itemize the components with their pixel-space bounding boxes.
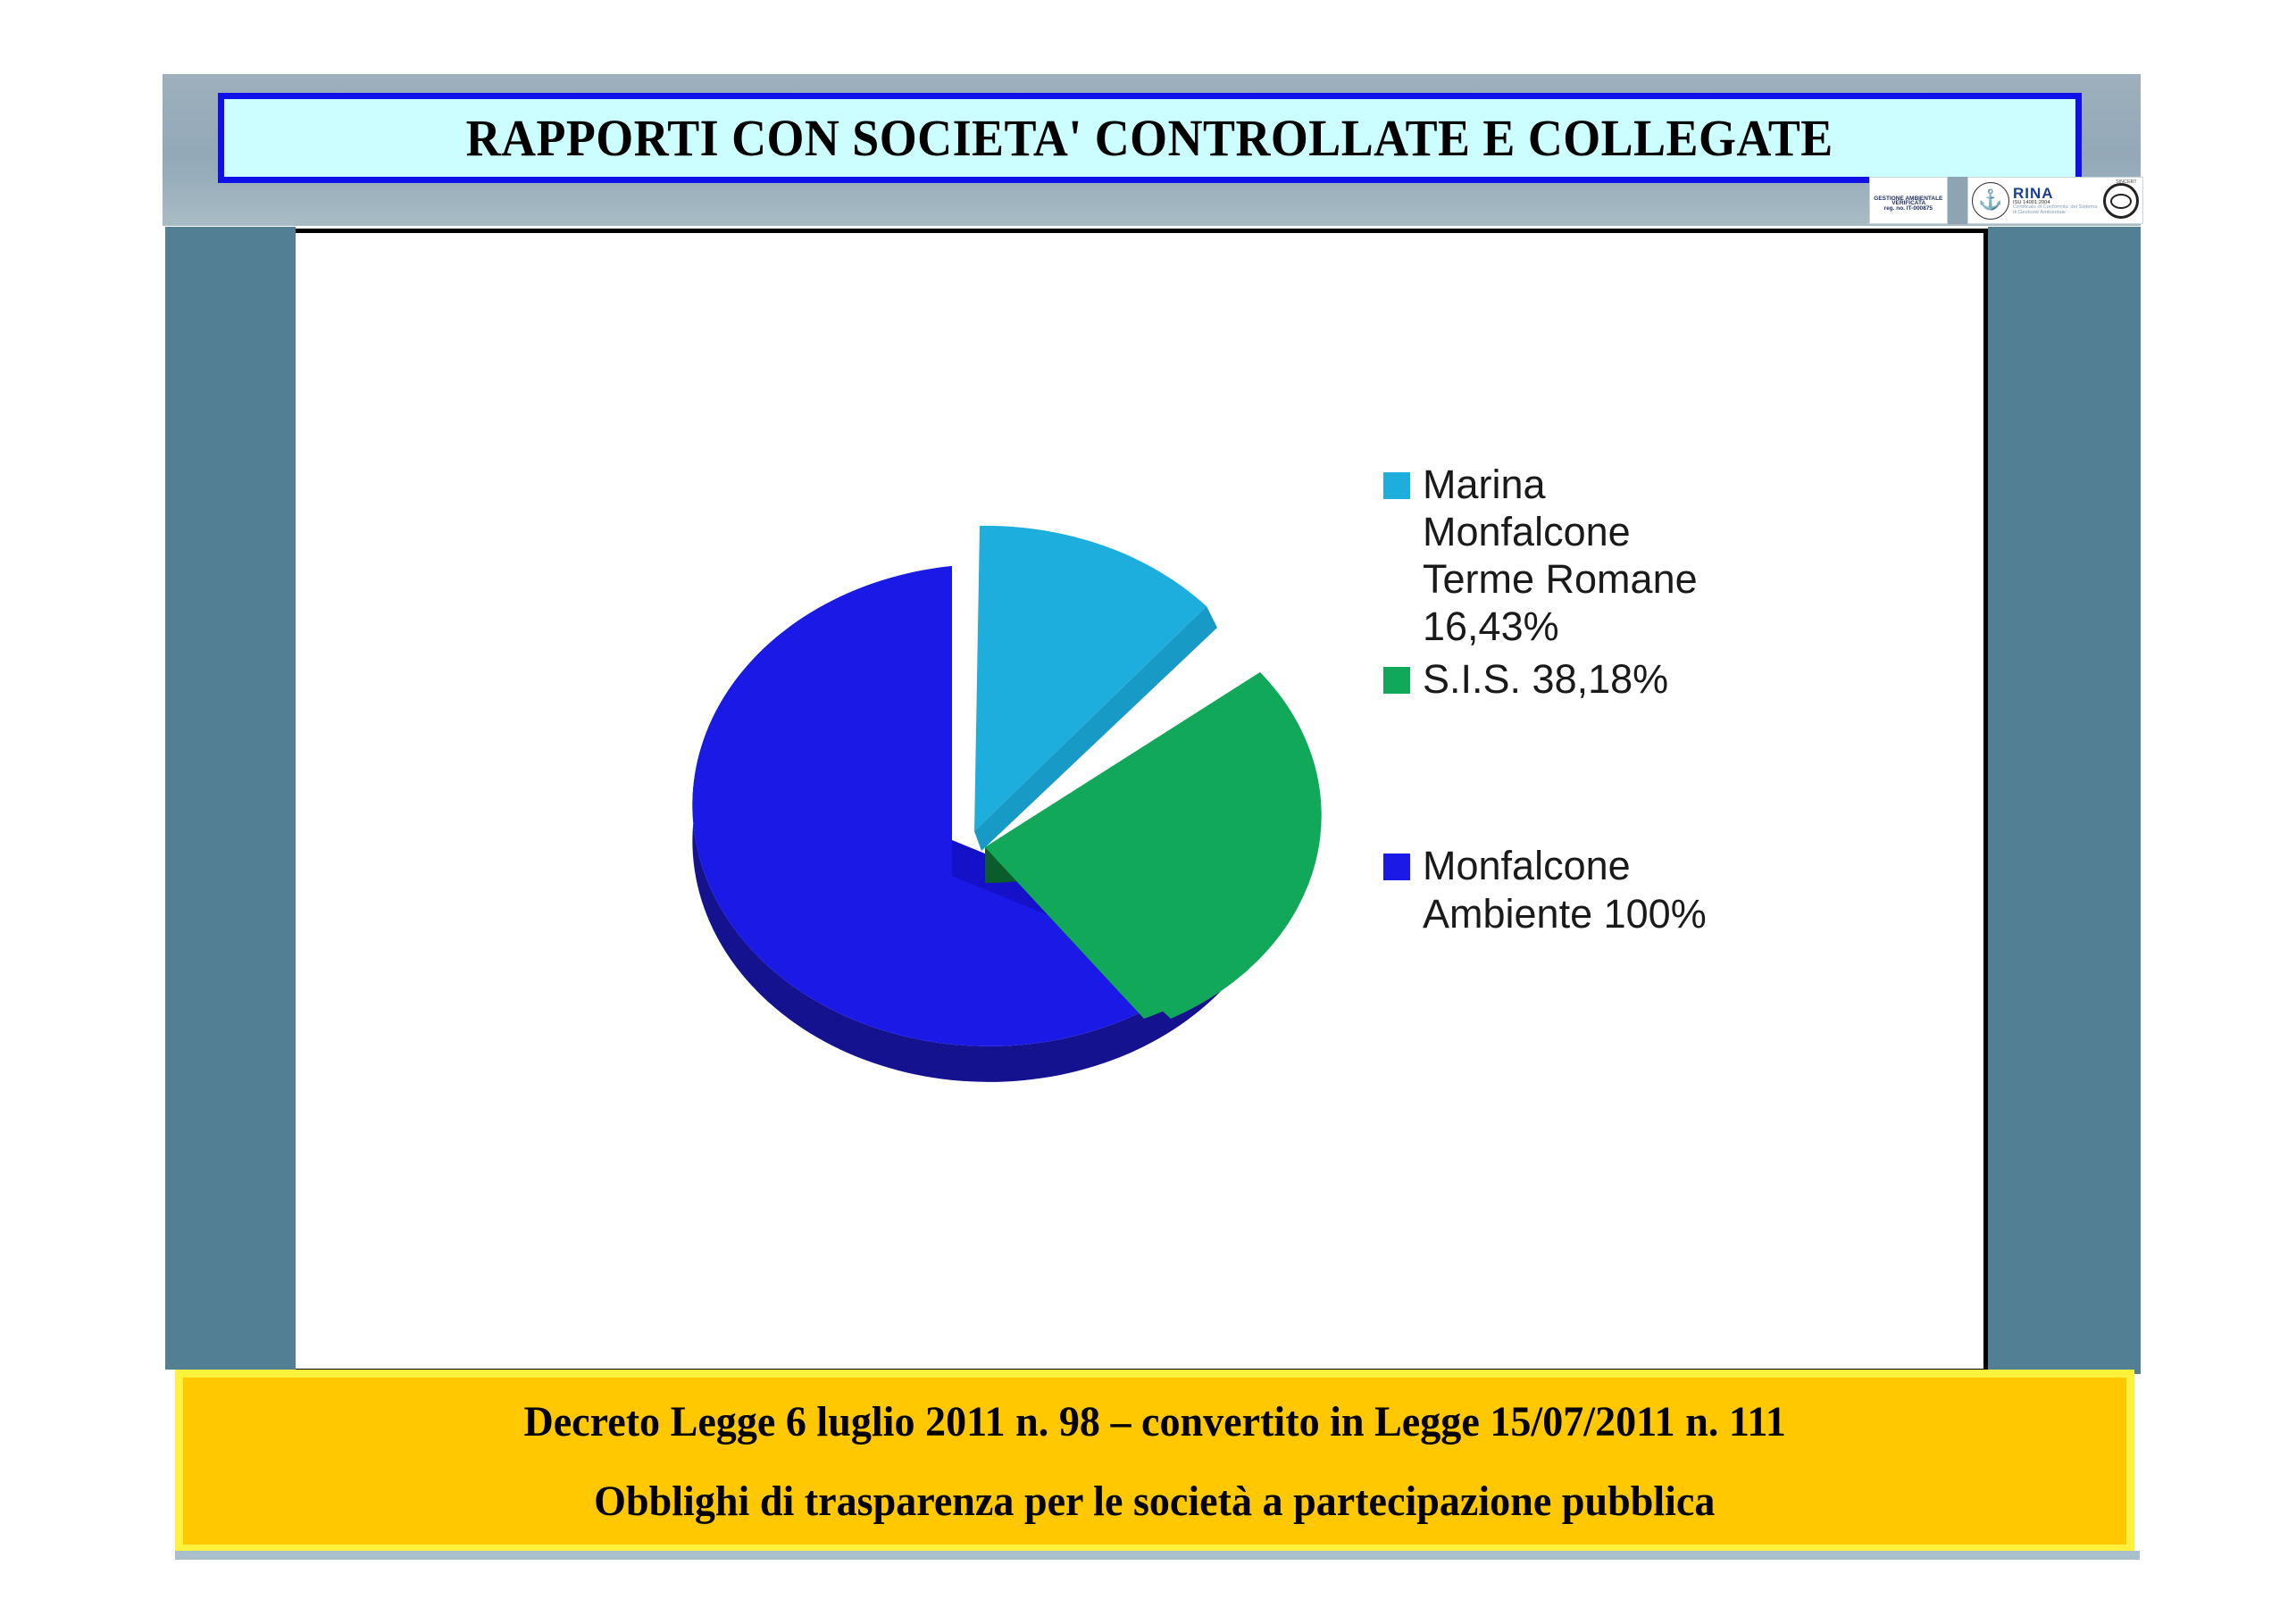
emas-logo: GESTIONE AMBIENTALE VERIFICATA reg. no. … bbox=[1869, 177, 1948, 224]
footer-shadow-strip bbox=[175, 1551, 2140, 1560]
emas-line-3: reg. no. IT-000875 bbox=[1884, 206, 1933, 212]
rina-wordmark: RINA bbox=[2013, 186, 2100, 201]
footer-left-notch bbox=[161, 1370, 175, 1560]
legend-label-marina: Marina Monfalcone Terme Romane 16,43% bbox=[1423, 461, 1698, 650]
pie-chart: Marina Monfalcone Terme Romane 16,43% S.… bbox=[296, 233, 1983, 1369]
legend-swatch-cyan bbox=[1383, 472, 1410, 499]
legend-swatch-blue bbox=[1383, 854, 1410, 880]
accreditation-label: SINCERT bbox=[2116, 179, 2137, 184]
chart-legend: Marina Monfalcone Terme Romane 16,43% S.… bbox=[1383, 461, 1803, 943]
legend-label-sis: S.I.S. 38,18% bbox=[1423, 655, 1668, 703]
legend-label-monfalcone-ambiente: Monfalcone Ambiente 100% bbox=[1423, 842, 1707, 937]
logo-strip-gap bbox=[1948, 177, 1967, 224]
chart-canvas: Marina Monfalcone Terme Romane 16,43% S.… bbox=[296, 229, 1988, 1373]
legend-item-monfalcone-ambiente[interactable]: Monfalcone Ambiente 100% bbox=[1383, 842, 1803, 937]
footer-line-1: Decreto Legge 6 luglio 2011 n. 98 – conv… bbox=[523, 1397, 1785, 1446]
slide-title-plaque: RAPPORTI CON SOCIETA' CONTROLLATE E COLL… bbox=[218, 93, 2082, 183]
left-side-panel bbox=[165, 227, 296, 1374]
page-title: RAPPORTI CON SOCIETA' CONTROLLATE E COLL… bbox=[466, 108, 1833, 168]
pie-graphic bbox=[546, 394, 1367, 1179]
pie-svg bbox=[546, 394, 1367, 1179]
anchor-seal-icon bbox=[1972, 182, 2009, 220]
legend-swatch-green bbox=[1383, 667, 1410, 694]
footer-banner: Decreto Legge 6 luglio 2011 n. 98 – conv… bbox=[175, 1370, 2134, 1553]
legend-item-sis[interactable]: S.I.S. 38,18% bbox=[1383, 655, 1803, 703]
rina-logo: RINA ISU 14001:2004 Certificato di Confo… bbox=[1967, 177, 2143, 224]
slide: RAPPORTI CON SOCIETA' CONTROLLATE E COLL… bbox=[0, 0, 2288, 1624]
rina-text-block: RINA ISU 14001:2004 Certificato di Confo… bbox=[2013, 186, 2100, 215]
legend-item-marina[interactable]: Marina Monfalcone Terme Romane 16,43% bbox=[1383, 461, 1803, 650]
certification-logo-strip: GESTIONE AMBIENTALE VERIFICATA reg. no. … bbox=[1869, 177, 2143, 224]
footer-line-2: Obblighi di trasparenza per le società a… bbox=[594, 1477, 1715, 1526]
right-side-panel bbox=[1988, 227, 2141, 1374]
rina-caption-2: di Gestione Ambientale bbox=[2013, 210, 2113, 215]
legend-spacer bbox=[1383, 708, 1803, 842]
accreditation-seal-icon bbox=[2103, 183, 2139, 219]
